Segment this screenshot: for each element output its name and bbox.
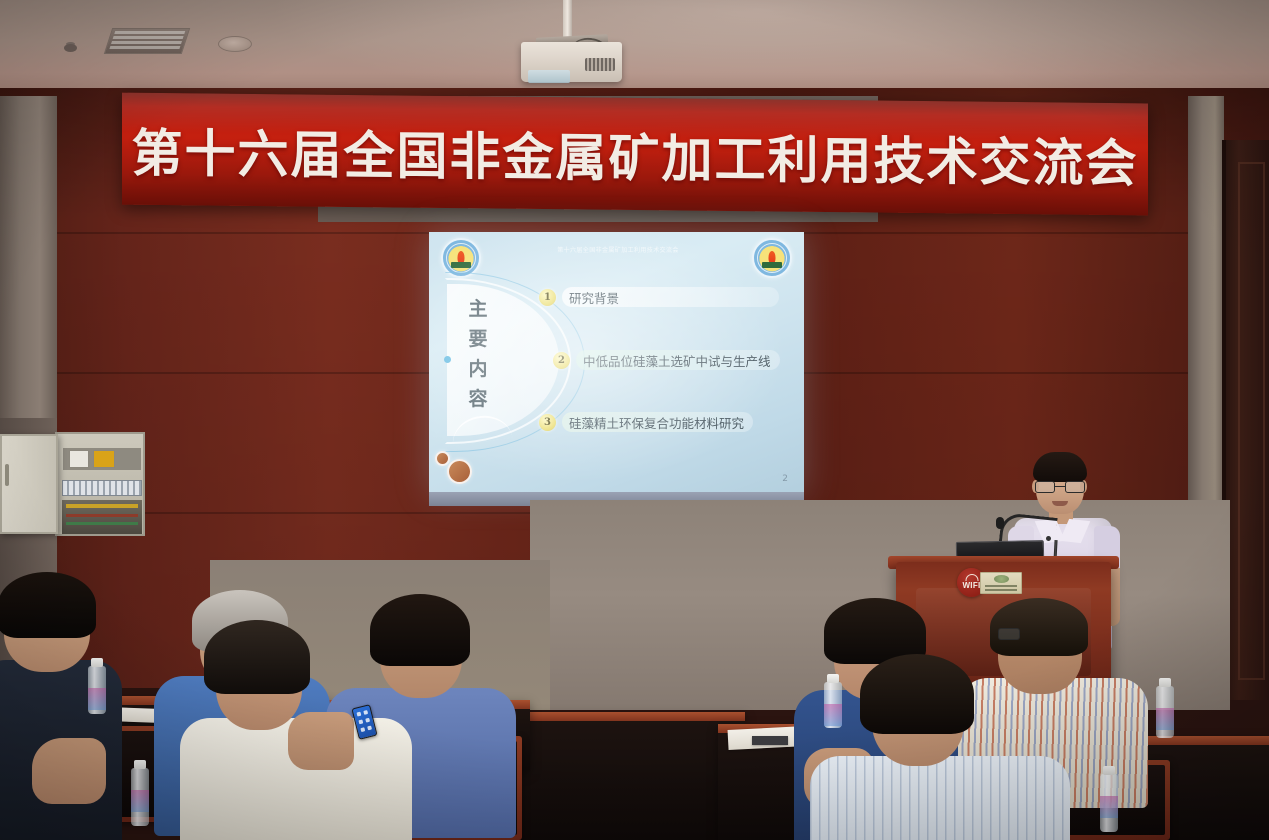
placard-seal-icon: [994, 575, 1009, 583]
water-bottle[interactable]: [1100, 774, 1118, 832]
slide-bullet-text-2: 中低品位硅藻土选矿中试与生产线: [576, 350, 780, 370]
water-bottle[interactable]: [131, 768, 149, 826]
breaker-box-wiring: [62, 500, 142, 534]
slide-side-title-char-1: 主: [461, 294, 495, 324]
presenter-mouth: [1052, 501, 1068, 506]
wifi-info-placard: [980, 572, 1022, 594]
glasses-icon: [1034, 481, 1086, 494]
audience-member: [0, 570, 142, 840]
audience-hand: [288, 712, 354, 770]
smartphone-on-desk: [752, 736, 788, 745]
slide-bullet-3: 3 硅藻精土环保复合功能材料研究: [539, 412, 753, 432]
conference-desk: [505, 712, 745, 840]
projection-screen: 第十六届全国非金属矿加工利用技术交流会 主 要 内 容 1 研究背景 2 中低品…: [429, 232, 804, 494]
slide-side-title: 主 要 内 容: [461, 294, 495, 414]
glasses-icon: [998, 628, 1020, 640]
slide-bullet-number-3: 3: [539, 414, 556, 431]
slide-bullet-2: 2 中低品位硅藻土选矿中试与生产线: [553, 350, 780, 370]
breaker-box-latch[interactable]: [5, 464, 9, 486]
audience-hair: [204, 620, 310, 694]
audience-shirt: [810, 756, 1070, 840]
banner-title: 第十六届全国非金属矿加工利用技术交流会: [122, 93, 1148, 216]
audience-hair: [0, 572, 96, 638]
slide-side-title-char-2: 要: [461, 324, 495, 354]
breaker-box-door[interactable]: [0, 434, 58, 534]
electrical-breaker-box[interactable]: [0, 432, 145, 536]
event-banner: 第十六届全国非金属矿加工利用技术交流会: [122, 93, 1148, 216]
slide-bullet-number-1: 1: [539, 289, 556, 306]
microphone-head-icon: [996, 517, 1004, 529]
slide-arc-dot: [444, 356, 451, 363]
breaker-box-enclosure: [55, 432, 145, 536]
slide-header-text: 第十六届全国非金属矿加工利用技术交流会: [487, 244, 749, 255]
conference-emblem-icon-right: [752, 238, 792, 278]
water-bottle[interactable]: [88, 666, 106, 714]
air-vent-icon: [104, 28, 190, 54]
slide-side-title-char-4: 容: [461, 384, 495, 414]
conference-room-photo: 第十六届全国非金属矿加工利用技术交流会 第十六届全国非金属矿加工利用技术交流会 …: [0, 0, 1269, 840]
breaker-box-upper-devices: [63, 448, 141, 470]
water-bottle[interactable]: [1156, 686, 1174, 738]
projected-slide: 第十六届全国非金属矿加工利用技术交流会 主 要 内 容 1 研究背景 2 中低品…: [429, 232, 804, 494]
slide-photo-bubble-small: [435, 451, 450, 466]
door-panel: [1238, 162, 1265, 680]
slide-photo-bubble-large: [447, 459, 472, 484]
projector-vent-icon: [585, 58, 615, 71]
audience-arm: [32, 738, 106, 804]
slide-side-title-char-3: 内: [461, 354, 495, 384]
smoke-detector-icon: [64, 44, 77, 52]
slide-page-number: 2: [782, 474, 788, 484]
slide-bullet-1: 1 研究背景: [539, 287, 779, 307]
wifi-label: WIFI: [962, 581, 980, 590]
slide-bullet-number-2: 2: [553, 352, 570, 369]
projector-lens-icon: [528, 70, 570, 83]
slide-bullet-text-1: 研究背景: [562, 287, 779, 307]
presenter-hair: [1033, 452, 1087, 482]
circuit-breakers-row: [62, 480, 142, 496]
audience-hair: [990, 598, 1088, 656]
audience-hair: [860, 654, 974, 734]
slide-bullet-text-3: 硅藻精土环保复合功能材料研究: [562, 412, 753, 432]
recessed-light-icon: [218, 36, 252, 52]
audience-member: [838, 654, 1058, 840]
water-bottle[interactable]: [824, 682, 842, 728]
